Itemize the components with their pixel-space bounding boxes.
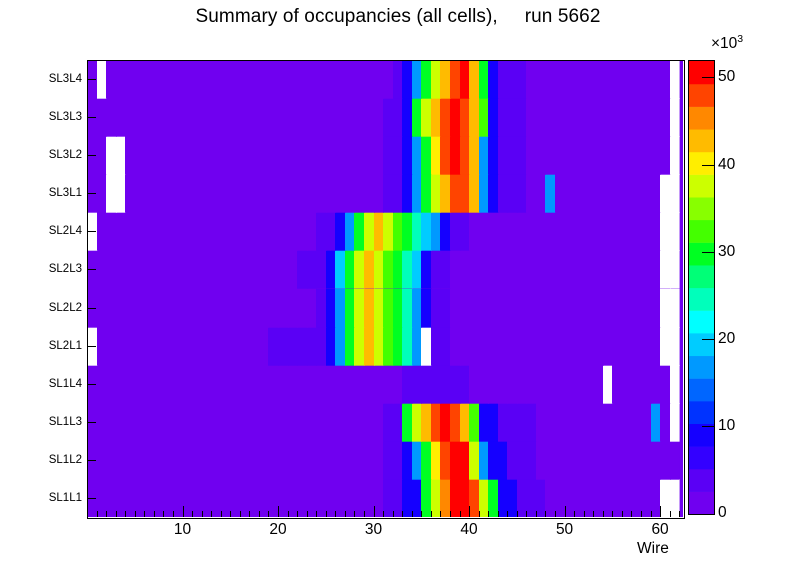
y-axis-labels: SL1L1SL1L2SL1L3SL1L4SL2L1SL2L2SL2L3SL2L4… [0,60,82,517]
x-axis-minor-tick [192,511,193,517]
x-axis-minor-tick [479,511,480,517]
color-bar-tick-label: 40 [718,156,735,174]
x-axis-minor-tick [364,511,365,517]
heatmap-plot-area[interactable] [87,60,683,517]
x-axis-minor-tick [526,511,527,517]
x-axis-minor-tick [421,511,422,517]
x-axis-major-tick [374,506,375,517]
y-axis-label-sl3l4: SL3L4 [49,73,82,85]
x-axis-minor-tick [507,511,508,517]
x-axis-major-tick [660,506,661,517]
y-axis-tick [87,460,96,461]
x-axis-minor-tick [536,511,537,517]
y-axis-tick [87,193,96,194]
color-bar-tick [702,252,715,253]
x-axis-major-tick [183,506,184,517]
x-axis-minor-tick [345,511,346,517]
x-axis-major-tick [469,506,470,517]
x-axis-minor-tick [574,511,575,517]
color-bar-tick-label: 10 [718,417,735,435]
color-bar-exponent: ×103 [711,33,743,53]
x-axis-minor-tick [584,511,585,517]
y-axis-label-sl3l1: SL3L1 [49,187,82,199]
y-axis-tick [87,269,96,270]
x-axis-minor-tick [221,511,222,517]
x-axis-major-tick [565,506,566,517]
x-axis-minor-tick [431,511,432,517]
color-bar-tick [702,165,715,166]
color-bar-tick-label: 30 [718,243,735,261]
x-axis-minor-tick [335,511,336,517]
color-bar-tick-label: 0 [718,504,727,522]
y-axis-tick [87,346,96,347]
root-canvas: Summary of occupancies (all cells), run … [0,0,796,572]
x-axis-major-tick [278,506,279,517]
x-axis-minor-tick [612,511,613,517]
color-bar-tick [702,77,715,78]
x-axis-minor-tick [593,511,594,517]
heatmap-canvas[interactable] [87,60,683,517]
color-bar-canvas [689,61,714,514]
x-axis-minor-tick [641,511,642,517]
x-axis-minor-tick [622,511,623,517]
x-axis-minor-tick [135,511,136,517]
page-title: Summary of occupancies (all cells), run … [0,6,796,28]
color-bar-tick-label: 20 [718,330,735,348]
y-axis-label-sl3l2: SL3L2 [49,149,82,161]
x-axis-minor-tick [631,511,632,517]
y-axis-label-sl2l3: SL2L3 [49,263,82,275]
x-axis-minor-tick [297,511,298,517]
y-axis-label-sl1l1: SL1L1 [49,492,82,504]
y-axis-tick [87,422,96,423]
x-axis-minor-tick [679,511,680,517]
y-axis-tick [87,231,96,232]
x-axis-tick-label: 60 [651,521,668,539]
y-axis-tick [87,384,96,385]
x-axis-minor-tick [326,511,327,517]
x-axis-minor-tick [354,511,355,517]
y-axis-tick [87,498,96,499]
x-axis-minor-tick [440,511,441,517]
x-axis-minor-tick [498,511,499,517]
x-axis-minor-tick [97,511,98,517]
y-axis-label-sl2l2: SL2L2 [49,302,82,314]
y-axis-label-sl2l1: SL2L1 [49,340,82,352]
x-axis-minor-tick [545,511,546,517]
x-axis-minor-tick [651,511,652,517]
y-axis-label-sl1l3: SL1L3 [49,416,82,428]
x-axis-tick-label: 50 [556,521,573,539]
x-axis-minor-tick [288,511,289,517]
x-axis-minor-tick [125,511,126,517]
y-axis-label-sl1l2: SL1L2 [49,454,82,466]
color-bar-tick [702,339,715,340]
x-axis-minor-tick [173,511,174,517]
x-axis-minor-tick [316,511,317,517]
x-axis-minor-tick [154,511,155,517]
x-axis-tick-label: 10 [174,521,191,539]
x-axis-minor-tick [402,511,403,517]
y-axis-label-sl1l4: SL1L4 [49,378,82,390]
x-axis-minor-tick [211,511,212,517]
x-axis-minor-tick [116,511,117,517]
x-axis-minor-tick [230,511,231,517]
x-axis-minor-tick [268,511,269,517]
x-axis-minor-tick [144,511,145,517]
x-axis-tick-label: 30 [365,521,382,539]
y-axis-tick [87,117,96,118]
y-axis-tick [87,308,96,309]
color-bar-tick-label: 50 [718,68,735,86]
y-axis-label-sl2l4: SL2L4 [49,225,82,237]
x-axis-minor-tick [412,511,413,517]
y-axis-label-sl3l3: SL3L3 [49,111,82,123]
x-axis-minor-tick [603,511,604,517]
x-axis-minor-tick [163,511,164,517]
x-axis-minor-tick [249,511,250,517]
x-axis-minor-tick [259,511,260,517]
x-axis-minor-tick [460,511,461,517]
x-axis-minor-tick [240,511,241,517]
x-axis-minor-tick [202,511,203,517]
color-bar-exponent-power: 3 [737,33,743,45]
y-axis-tick [87,79,96,80]
y-axis-tick [87,155,96,156]
color-bar-exponent-base: ×10 [711,35,737,52]
x-axis-minor-tick [106,511,107,517]
color-bar [688,60,715,515]
x-axis-minor-tick [393,511,394,517]
x-axis-title: Wire [637,540,669,558]
x-axis-minor-tick [450,511,451,517]
x-axis-minor-tick [383,511,384,517]
x-axis-tick-label: 40 [460,521,477,539]
x-axis-minor-tick [488,511,489,517]
x-axis-tick-label: 20 [269,521,286,539]
x-axis-minor-tick [307,511,308,517]
x-axis-minor-tick [517,511,518,517]
x-axis-minor-tick [555,511,556,517]
x-axis-minor-tick [670,511,671,517]
color-bar-tick [702,426,715,427]
